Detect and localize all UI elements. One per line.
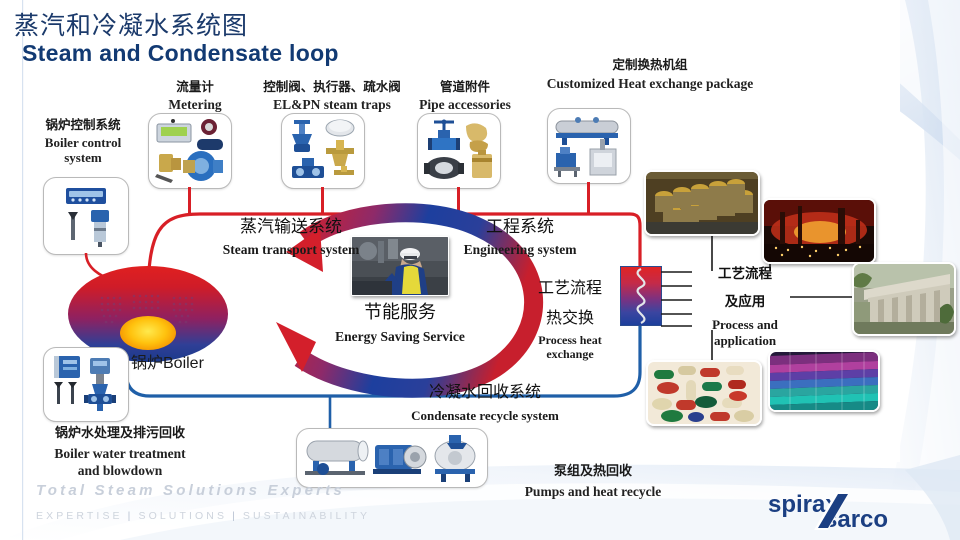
slide-canvas: 蒸汽和冷凝水系统图 Steam and Condensate loop 锅炉控制… xyxy=(0,0,960,540)
label-process-application-en2: application xyxy=(690,333,800,349)
label-energy-saving: 节能服务 Energy Saving Service xyxy=(300,298,500,345)
footer-pillars: EXPERTISE|SOLUTIONS|SUSTAINABILITY xyxy=(36,510,370,522)
node-label-boiler-control-cn: 锅炉控制系统 xyxy=(18,118,148,132)
label-process-application: 工艺流程 及应用 Process and application xyxy=(690,262,800,349)
node-label-pumps-heat-recycle-en: Pumps and heat recycle xyxy=(488,484,698,500)
connector-pipe-accessories xyxy=(457,187,460,213)
card-boiler-water-treatment[interactable] xyxy=(43,347,129,422)
canning-production-photo xyxy=(644,170,760,236)
node-label-metering: 流量计 Metering xyxy=(140,80,250,113)
pump-heat-recovery-icon xyxy=(297,429,487,487)
node-label-steam-traps-cn: 控制阀、执行器、疏水阀 xyxy=(252,80,412,94)
heat-exchanger-coil xyxy=(621,267,661,325)
connector-steam-traps xyxy=(321,187,324,213)
footer-pillar-expertise: EXPERTISE xyxy=(36,510,123,522)
boiler-label: 锅炉Boiler xyxy=(131,349,204,373)
label-steam-transport-en: Steam transport system xyxy=(176,242,406,258)
footer-separator-2: | xyxy=(227,510,243,522)
boiler-control-panel-icon xyxy=(44,178,128,254)
card-heat-exchange-package[interactable] xyxy=(547,108,631,184)
node-label-heat-exchange-package-en: Customized Heat exchange package xyxy=(510,76,790,92)
card-pipe-accessories[interactable] xyxy=(417,113,501,189)
pharmaceutical-pills-photo xyxy=(646,360,762,426)
connector-metering xyxy=(188,187,191,213)
footer-pillar-sustainability: SUSTAINABILITY xyxy=(243,510,370,522)
node-label-metering-en: Metering xyxy=(140,97,250,113)
node-label-boiler-control-en: Boiler controlsystem xyxy=(18,136,148,166)
label-steam-transport: 蒸汽输送系统 Steam transport system xyxy=(176,212,406,258)
node-label-pipe-accessories-en: Pipe accessories xyxy=(400,97,530,113)
page-title-english: Steam and Condensate loop xyxy=(22,40,339,67)
canning-production-photo-content xyxy=(646,172,758,234)
page-title-chinese: 蒸汽和冷凝水系统图 xyxy=(14,6,248,42)
classical-building-photo-content xyxy=(854,264,954,334)
label-process-application-en1: Process and xyxy=(690,317,800,333)
spirax-sarco-logo-svg: spirax sarco xyxy=(768,490,948,530)
node-label-boiler-control: 锅炉控制系统 Boiler controlsystem xyxy=(18,118,148,166)
label-engineering-system-en: Engineering system xyxy=(430,242,610,258)
footer-pillar-solutions: SOLUTIONS xyxy=(138,510,227,522)
node-label-pumps-heat-recycle: 泵组及热回收 Pumps and heat recycle xyxy=(488,464,698,499)
connector-heat-exchange-package xyxy=(587,182,590,213)
label-condensate-recycle-cn: 冷凝水回收系统 xyxy=(370,378,600,402)
label-energy-saving-cn: 节能服务 xyxy=(300,298,500,324)
node-label-boiler-water-treatment-cn: 锅炉水处理及排污回收 xyxy=(20,426,220,441)
flow-meter-icon xyxy=(149,114,231,188)
control-valve-steam-trap-icon xyxy=(282,114,364,188)
node-label-boiler-water-treatment-en: Boiler water treatmentand blowdown xyxy=(20,446,220,480)
refinery-at-sunset-photo xyxy=(762,198,876,264)
card-steam-traps[interactable] xyxy=(281,113,365,189)
pipe-fittings-icon xyxy=(418,114,500,188)
card-boiler-control[interactable] xyxy=(43,177,129,255)
label-process-heat-exchange-en: Process heatexchange xyxy=(515,333,625,362)
card-metering[interactable] xyxy=(148,113,232,189)
node-label-pumps-heat-recycle-cn: 泵组及热回收 xyxy=(488,464,698,479)
label-process-application-cn2: 及应用 xyxy=(690,290,800,310)
label-steam-transport-cn: 蒸汽输送系统 xyxy=(176,212,406,237)
node-label-heat-exchange-package-cn: 定制换热机组 xyxy=(510,58,790,72)
classical-building-photo xyxy=(852,262,956,336)
label-condensate-recycle: 冷凝水回收系统 Condensate recycle system xyxy=(370,378,600,424)
spirax-sarco-logo: spirax sarco xyxy=(768,490,948,530)
textile-photo-content xyxy=(770,352,878,410)
heat-exchange-package-icon xyxy=(548,109,630,183)
label-engineering-system: 工程系统 Engineering system xyxy=(430,212,610,258)
node-label-heat-exchange-package: 定制换热机组 Customized Heat exchange package xyxy=(510,58,790,92)
node-label-metering-cn: 流量计 xyxy=(140,80,250,94)
label-process-heat-exchange-cn2: 热交换 xyxy=(515,304,625,328)
refinery-photo-content xyxy=(764,200,874,262)
label-condensate-recycle-en: Condensate recycle system xyxy=(370,408,600,424)
label-process-application-cn1: 工艺流程 xyxy=(690,262,800,282)
textile-yarn-photo xyxy=(768,350,880,412)
node-label-boiler-water-treatment: 锅炉水处理及排污回收 Boiler water treatmentand blo… xyxy=(20,426,220,480)
node-label-steam-traps-en: EL&PN steam traps xyxy=(252,97,412,113)
pills-photo-content xyxy=(648,362,760,424)
label-process-heat-exchange: 工艺流程 热交换 Process heatexchange xyxy=(515,274,625,362)
label-process-heat-exchange-cn1: 工艺流程 xyxy=(515,274,625,298)
node-label-steam-traps: 控制阀、执行器、疏水阀 EL&PN steam traps xyxy=(252,80,412,113)
footer-tagline: Total Steam Solutions Experts xyxy=(36,482,345,499)
boiler-flame xyxy=(120,316,176,350)
boiler-water-treatment-icon xyxy=(44,348,128,421)
label-energy-saving-en: Energy Saving Service xyxy=(300,329,500,345)
footer-separator-1: | xyxy=(123,510,139,522)
label-engineering-system-cn: 工程系统 xyxy=(430,212,610,237)
card-pumps-heat-recycle[interactable] xyxy=(296,428,488,488)
heat-exchanger-graphic xyxy=(620,266,662,326)
